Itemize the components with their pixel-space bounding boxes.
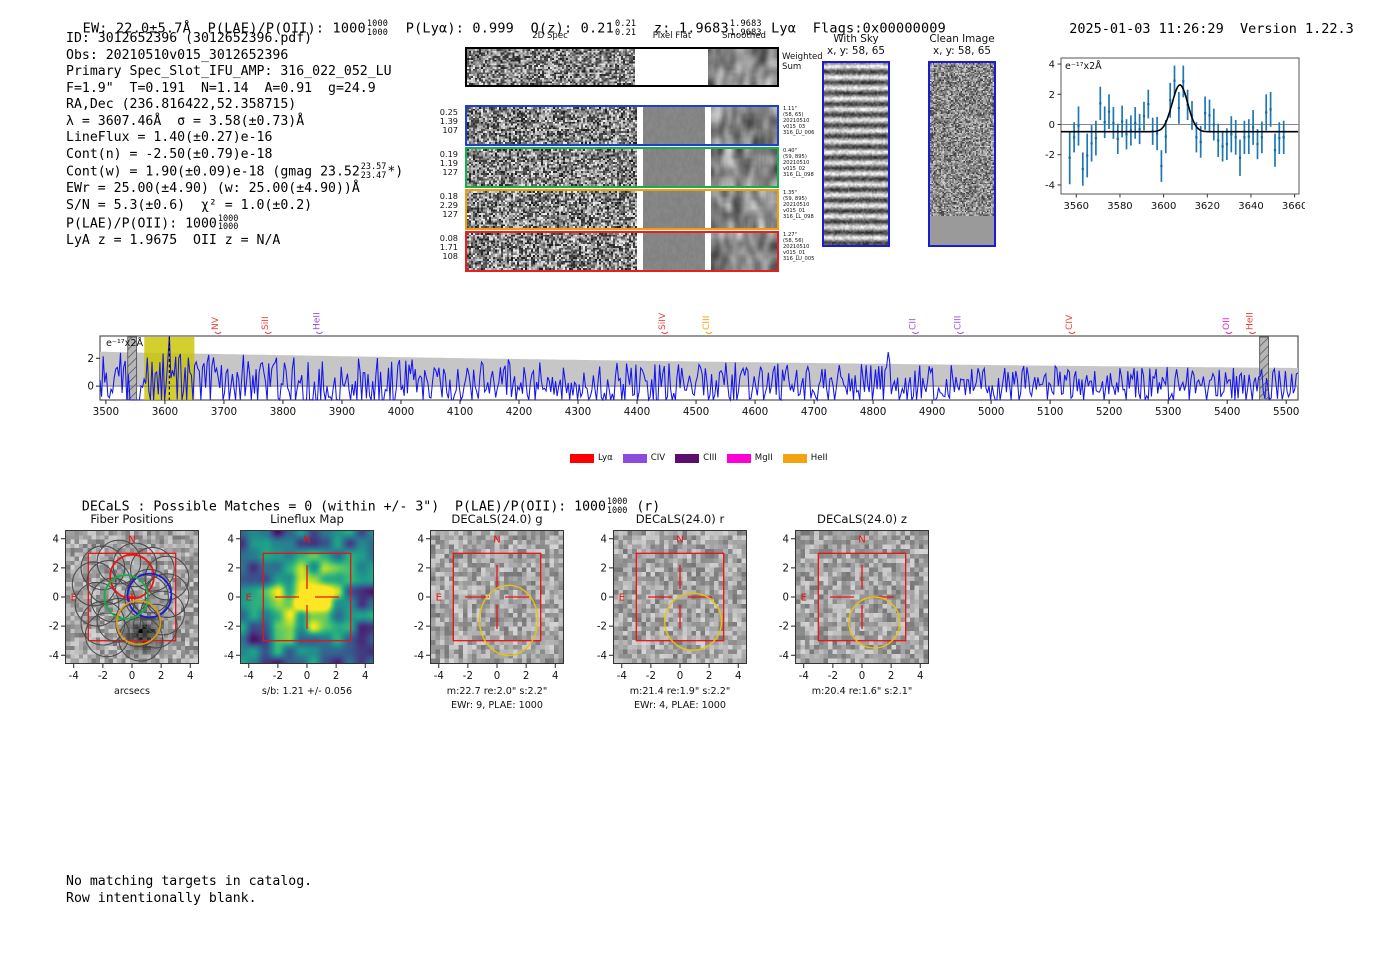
info-plae: P(LAE)/P(OII): 100010001000 — [66, 215, 403, 233]
svg-text:e⁻¹⁷x2Å: e⁻¹⁷x2Å — [106, 336, 143, 349]
svg-text:5100: 5100 — [1037, 406, 1063, 418]
svg-text:-4: -4 — [69, 671, 79, 682]
fiber-id-label: 1.35"(59, 895)20210510v015_01316_LL_098 — [783, 190, 814, 220]
svg-text:4: 4 — [362, 671, 368, 682]
legend-swatch — [570, 454, 594, 463]
svg-text:CIII: CIII — [702, 316, 712, 330]
sky-panel-name: With Sky — [800, 33, 912, 45]
legend-item: CIII — [675, 453, 717, 463]
svg-text:4: 4 — [228, 534, 234, 545]
svg-text:3600: 3600 — [1151, 201, 1176, 212]
svg-text:4400: 4400 — [624, 406, 650, 418]
svg-text:3700: 3700 — [211, 406, 237, 418]
fiber-id-label: 1.11"(58, 65)20210510v015_03316_LU_006 — [783, 106, 814, 136]
info-id: ID: 3012652396 (3012652396.pdf) — [66, 31, 403, 48]
svg-text:3900: 3900 — [329, 406, 355, 418]
svg-text:0: 0 — [601, 593, 607, 604]
info-obs: Obs: 20210510v015_3012652396 — [66, 48, 403, 65]
svg-text:4: 4 — [552, 671, 558, 682]
spec2d-column-title: Smoothed — [704, 31, 784, 41]
legend-swatch — [727, 454, 751, 463]
svg-text:2: 2 — [333, 671, 339, 682]
svg-text:5500: 5500 — [1273, 406, 1299, 418]
legend-label: CIV — [651, 453, 665, 463]
svg-text:2: 2 — [706, 671, 712, 682]
svg-text:4700: 4700 — [801, 406, 827, 418]
svg-text:-4: -4 — [224, 651, 234, 662]
svg-text:-2: -2 — [646, 671, 656, 682]
timestamp: 2025-01-03 11:26:29 — [1069, 21, 1223, 37]
svg-text:0: 0 — [129, 671, 135, 682]
cutout-axis-label: arcsecs — [35, 686, 229, 698]
info-radec: RA,Dec (236.816422,52.358715) — [66, 97, 403, 114]
sky-panel-name: Clean Image — [906, 33, 1018, 45]
svg-text:2: 2 — [418, 563, 424, 574]
svg-text:-4: -4 — [779, 651, 789, 662]
svg-text:3640: 3640 — [1238, 201, 1263, 212]
svg-text:-2: -2 — [463, 671, 473, 682]
bottom-note-line-2: Row intentionally blank. — [66, 891, 312, 908]
fiber-metrics: 0.182.29127 — [425, 192, 458, 220]
svg-text:2: 2 — [228, 563, 234, 574]
fiber-strip — [465, 189, 779, 230]
legend-swatch — [783, 454, 807, 463]
svg-text:5000: 5000 — [978, 406, 1004, 418]
sky-panel-coords: x, y: 58, 65 — [906, 45, 1018, 57]
svg-text:4200: 4200 — [506, 406, 532, 418]
svg-text:0: 0 — [228, 593, 234, 604]
legend-label: Lyα — [598, 453, 613, 463]
svg-text:SiIV: SiIV — [658, 312, 668, 330]
svg-text:-2: -2 — [414, 622, 424, 633]
svg-text:3800: 3800 — [270, 406, 296, 418]
svg-text:0: 0 — [1049, 120, 1055, 131]
legend-swatch — [675, 454, 699, 463]
svg-text:4300: 4300 — [565, 406, 591, 418]
svg-text:-4: -4 — [434, 671, 444, 682]
svg-text:-2: -2 — [273, 671, 283, 682]
zoomed-line-spectrum-chart: 356035803600362036403660-4-2024e⁻¹⁷x2Å — [1033, 48, 1305, 220]
svg-text:2: 2 — [158, 671, 164, 682]
svg-text:-4: -4 — [49, 651, 59, 662]
svg-text:2: 2 — [888, 671, 894, 682]
svg-text:4: 4 — [735, 671, 741, 682]
fiber-strip — [465, 105, 779, 146]
fiber-id-label: 1.27"(58, 56)20210510v015_01316_LU_005 — [783, 232, 814, 262]
bottom-note-line-1: No matching targets in catalog. — [66, 874, 312, 891]
svg-text:2: 2 — [601, 563, 607, 574]
svg-text:3600: 3600 — [152, 406, 178, 418]
cutout-title: DECaLS(24.0) r — [587, 512, 773, 526]
cutout-image — [240, 530, 374, 664]
info-lineflux: LineFlux = 1.40(±0.27)e-16 — [66, 130, 403, 147]
svg-text:-2: -2 — [49, 622, 59, 633]
info-lambda: λ = 3607.46Å σ = 3.58(±0.73)Å — [66, 114, 403, 131]
sky-panel-coords: x, y: 58, 65 — [800, 45, 912, 57]
legend-item: CIV — [623, 453, 665, 463]
cutout-title: Lineflux Map — [214, 512, 400, 526]
svg-text:-4: -4 — [617, 671, 627, 682]
svg-text:CII: CII — [909, 318, 919, 330]
fiber-id-label: 0.40"(59, 895)20210510v015_02316_LL_098 — [783, 148, 814, 178]
info-redshift: LyA z = 1.9675 OII z = N/A — [66, 233, 403, 250]
clean-image — [928, 61, 996, 247]
svg-text:0: 0 — [859, 671, 865, 682]
info-spec-slot: Primary Spec_Slot_IFU_AMP: 316_022_052_L… — [66, 64, 403, 81]
svg-text:-4: -4 — [414, 651, 424, 662]
svg-text:4000: 4000 — [388, 406, 414, 418]
svg-text:4500: 4500 — [683, 406, 709, 418]
svg-text:3580: 3580 — [1107, 201, 1132, 212]
cutout-image — [430, 530, 564, 664]
fiber-strip — [465, 147, 779, 188]
svg-text:e⁻¹⁷x2Å: e⁻¹⁷x2Å — [1065, 60, 1102, 72]
cutout-caption: m:22.7 re:2.0" s:2.2" — [400, 686, 594, 698]
svg-text:CIV: CIV — [1065, 314, 1075, 330]
cutout-title: Fiber Positions — [39, 512, 225, 526]
svg-text:-4: -4 — [244, 671, 254, 682]
info-cont-w: Cont(w) = 1.90(±0.09)e-18 (gmag 23.5223.… — [66, 163, 403, 181]
legend-label: CIII — [703, 453, 717, 463]
svg-text:0: 0 — [53, 593, 59, 604]
svg-text:-2: -2 — [1045, 150, 1055, 161]
svg-text:2: 2 — [53, 563, 59, 574]
svg-text:0: 0 — [87, 381, 94, 393]
cutout-image — [65, 530, 199, 664]
svg-text:0: 0 — [494, 671, 500, 682]
svg-text:0: 0 — [304, 671, 310, 682]
svg-text:CIII: CIII — [953, 316, 963, 330]
svg-text:5400: 5400 — [1214, 406, 1240, 418]
cutout-caption: EWr: 9, PLAE: 1000 — [400, 700, 594, 712]
svg-text:3660: 3660 — [1282, 201, 1305, 212]
cutout-image — [613, 530, 747, 664]
legend-swatch — [623, 454, 647, 463]
info-cont-n: Cont(n) = -2.50(±0.79)e-18 — [66, 147, 403, 164]
fiber-metrics: 0.251.39107 — [425, 108, 458, 136]
svg-text:-4: -4 — [597, 651, 607, 662]
cutout-title: DECaLS(24.0) z — [769, 512, 955, 526]
info-seeing: F=1.9" T=0.191 N=1.14 A=0.91 g=24.9 — [66, 81, 403, 98]
fiber-metrics: 0.081.71108 — [425, 234, 458, 262]
svg-text:-2: -2 — [779, 622, 789, 633]
header-timestamp-version: 2025-01-03 11:26:29 Version 1.22.3 — [1053, 5, 1354, 37]
svg-text:4600: 4600 — [742, 406, 768, 418]
svg-text:4: 4 — [418, 534, 424, 545]
full-spectrum-chart: 3500360037003800390040004100420043004400… — [86, 306, 1302, 424]
svg-text:4: 4 — [53, 534, 59, 545]
svg-text:SiII: SiII — [261, 316, 271, 330]
svg-text:5300: 5300 — [1155, 406, 1181, 418]
with-sky-image — [822, 61, 890, 247]
svg-text:5200: 5200 — [1096, 406, 1122, 418]
spectrum-legend: Lyα CIV CIII MgII HeII — [570, 453, 828, 463]
svg-text:3560: 3560 — [1064, 201, 1089, 212]
svg-text:HeII: HeII — [313, 312, 323, 330]
info-sn: S/N = 5.3(±0.6) χ² = 1.0(±0.2) — [66, 198, 403, 215]
sky-panel-title: With Skyx, y: 58, 65 — [800, 33, 912, 57]
legend-label: MgII — [755, 453, 773, 463]
svg-text:4100: 4100 — [447, 406, 473, 418]
svg-text:4: 4 — [783, 534, 789, 545]
svg-text:-2: -2 — [224, 622, 234, 633]
svg-text:-2: -2 — [98, 671, 108, 682]
svg-text:HeII: HeII — [1246, 312, 1256, 330]
version: Version 1.22.3 — [1240, 21, 1354, 37]
legend-label: HeII — [811, 453, 828, 463]
svg-text:NV: NV — [211, 316, 221, 330]
svg-text:OII: OII — [1222, 317, 1232, 330]
svg-text:0: 0 — [783, 593, 789, 604]
bottom-note: No matching targets in catalog. Row inte… — [66, 874, 312, 907]
legend-item: Lyα — [570, 453, 613, 463]
legend-item: MgII — [727, 453, 773, 463]
svg-text:2: 2 — [1049, 90, 1055, 101]
svg-text:0: 0 — [418, 593, 424, 604]
svg-text:-2: -2 — [828, 671, 838, 682]
cutout-caption: m:20.4 re:1.6" s:2.1" — [765, 686, 959, 698]
svg-text:4: 4 — [1049, 60, 1055, 71]
svg-text:4: 4 — [601, 534, 607, 545]
cutout-caption: m:21.4 re:1.9" s:2.2" — [583, 686, 777, 698]
svg-text:3500: 3500 — [93, 406, 119, 418]
spec2d-column-title: Pixel Flat — [632, 31, 712, 41]
spec2d-column-title: 2D Spec — [510, 31, 590, 41]
svg-text:-4: -4 — [1045, 180, 1055, 191]
two-d-spectra-panel: 2D SpecPixel FlatSmoothedWeightedSum0.25… — [425, 33, 785, 255]
svg-text:4900: 4900 — [919, 406, 945, 418]
svg-text:2: 2 — [523, 671, 529, 682]
cutout-image — [795, 530, 929, 664]
fiber-metrics: 0.191.19127 — [425, 150, 458, 178]
detection-info-block: ID: 3012652396 (3012652396.pdf) Obs: 202… — [66, 31, 403, 249]
fiber-strip — [465, 231, 779, 272]
svg-text:3620: 3620 — [1195, 201, 1220, 212]
svg-text:2: 2 — [783, 563, 789, 574]
cutout-title: DECaLS(24.0) g — [404, 512, 590, 526]
svg-text:4: 4 — [917, 671, 923, 682]
svg-text:-2: -2 — [597, 622, 607, 633]
svg-text:0: 0 — [677, 671, 683, 682]
weighted-sum-strip — [465, 47, 779, 87]
svg-text:4: 4 — [187, 671, 193, 682]
legend-item: HeII — [783, 453, 828, 463]
sky-panel-title: Clean Imagex, y: 58, 65 — [906, 33, 1018, 57]
svg-text:4800: 4800 — [860, 406, 886, 418]
decals-match-header: DECaLS : Possible Matches = 0 (within +/… — [66, 483, 660, 515]
cutout-caption: EWr: 4, PLAE: 1000 — [583, 700, 777, 712]
svg-text:-4: -4 — [799, 671, 809, 682]
cutout-caption: s/b: 1.21 +/- 0.056 — [210, 686, 404, 698]
svg-text:2: 2 — [87, 353, 94, 365]
info-ewr: EWr = 25.00(±4.90) (w: 25.00(±4.90))Å — [66, 181, 403, 198]
